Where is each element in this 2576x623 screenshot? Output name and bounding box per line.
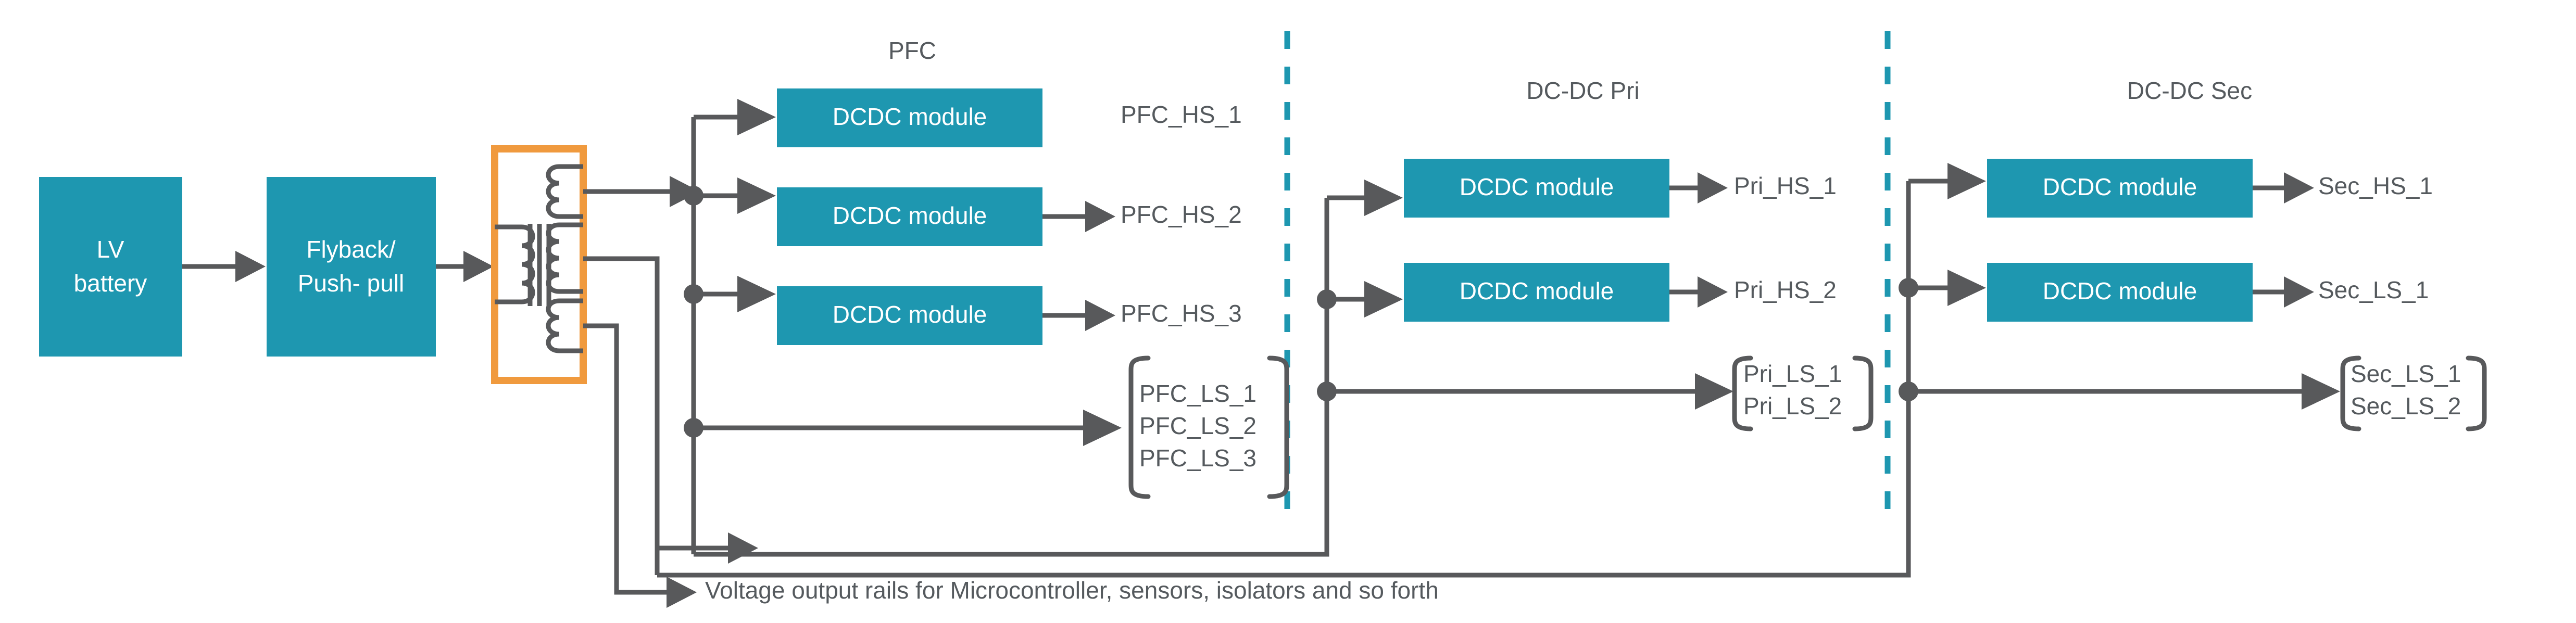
flyback-label-line1: Flyback/ [306, 236, 395, 263]
rail-label-pfc-ls-2: PFC_LS_2 [1139, 412, 1256, 439]
rail-label-sec-hs-1: Sec_HS_1 [2318, 172, 2433, 199]
rail-label-sec-ls-group-1: Sec_LS_1 [2351, 360, 2461, 387]
flyback-label-line2: Push- pull [298, 270, 405, 297]
wire-pfc-module-3-out [1042, 300, 1115, 331]
wire-pri-bus-to-module-2 [1317, 281, 1403, 317]
diagram-canvas: PFC DC-DC Pri DC-DC Sec [0, 0, 2576, 623]
section-title-dcdc-sec: DC-DC Sec [2127, 77, 2252, 104]
power-supply-block-diagram: PFC DC-DC Pri DC-DC Sec [0, 0, 2576, 623]
wire-pri-module-1-out [1669, 172, 1728, 204]
wire-battery-to-converter [182, 251, 266, 282]
wire-pfc-bus-to-pri-bus [694, 500, 1327, 554]
wire-sec-bus-to-module-2 [1899, 270, 1986, 306]
rail-label-pri-hs-2: Pri_HS_2 [1734, 276, 1837, 303]
rail-label-pri-hs-1: Pri_HS_1 [1734, 172, 1837, 199]
rail-label-pfc-hs-2: PFC_HS_2 [1121, 201, 1242, 228]
rail-label-sec-ls-group-2: Sec_LS_2 [2351, 392, 2461, 419]
wire-pfc-bus-to-module-3 [684, 276, 776, 312]
lv-battery-block[interactable] [39, 177, 182, 357]
wire-sec-module-2-out [2253, 276, 2314, 308]
wire-pfc-bus-to-module-1 [694, 99, 776, 135]
rail-label-pri-ls-1: Pri_LS_1 [1743, 360, 1842, 387]
footer-note-label: Voltage output rails for Microcontroller… [705, 577, 1439, 604]
wire-bottom-rail-to-sec-bus [657, 500, 1908, 575]
sec-module-1-label: DCDC module [2043, 173, 2197, 200]
pfc-module-1-label: DCDC module [833, 103, 987, 130]
wire-tap2-to-pfc-ls [583, 259, 758, 564]
lv-battery-label-line2: battery [74, 270, 147, 297]
pri-module-2-label: DCDC module [1460, 277, 1614, 304]
wire-pri-module-2-out [1669, 276, 1728, 308]
wire-pfc-bus-to-ls-group [684, 410, 1122, 446]
wire-sec-bus-to-ls-group [1899, 373, 2340, 410]
rail-label-pri-ls-2: Pri_LS_2 [1743, 392, 1842, 419]
section-title-dcdc-pri: DC-DC Pri [1526, 77, 1639, 104]
rail-label-pfc-hs-3: PFC_HS_3 [1121, 300, 1242, 327]
section-title-pfc: PFC [888, 37, 936, 64]
wire-pfc-module-2-out [1042, 201, 1115, 232]
pfc-module-2-label: DCDC module [833, 202, 987, 229]
wire-pri-bus-to-module-1 [1327, 180, 1403, 216]
rail-label-pfc-ls-1: PFC_LS_1 [1139, 380, 1256, 407]
wire-pfc-bus-to-module-2 [684, 177, 776, 214]
wire-tap3-to-footer-note [583, 326, 697, 608]
pri-module-1-label: DCDC module [1460, 173, 1614, 200]
wire-tap1-to-pfc-bus [583, 176, 700, 207]
rail-label-pfc-ls-3: PFC_LS_3 [1139, 444, 1256, 472]
wire-converter-to-transformer [435, 251, 494, 282]
rail-label-pfc-hs-1: PFC_HS_1 [1121, 101, 1242, 128]
sec-module-2-label: DCDC module [2043, 277, 2197, 304]
pfc-module-3-label: DCDC module [833, 301, 987, 328]
flyback-pushpull-block[interactable] [267, 177, 436, 357]
lv-battery-label-line1: LV [97, 236, 124, 263]
rail-label-sec-ls-1: Sec_LS_1 [2318, 276, 2429, 303]
wire-sec-bus-to-module-1 [1908, 163, 1986, 199]
wire-pri-bus-to-ls-group [1317, 373, 1733, 410]
wire-sec-module-1-out [2253, 172, 2314, 204]
